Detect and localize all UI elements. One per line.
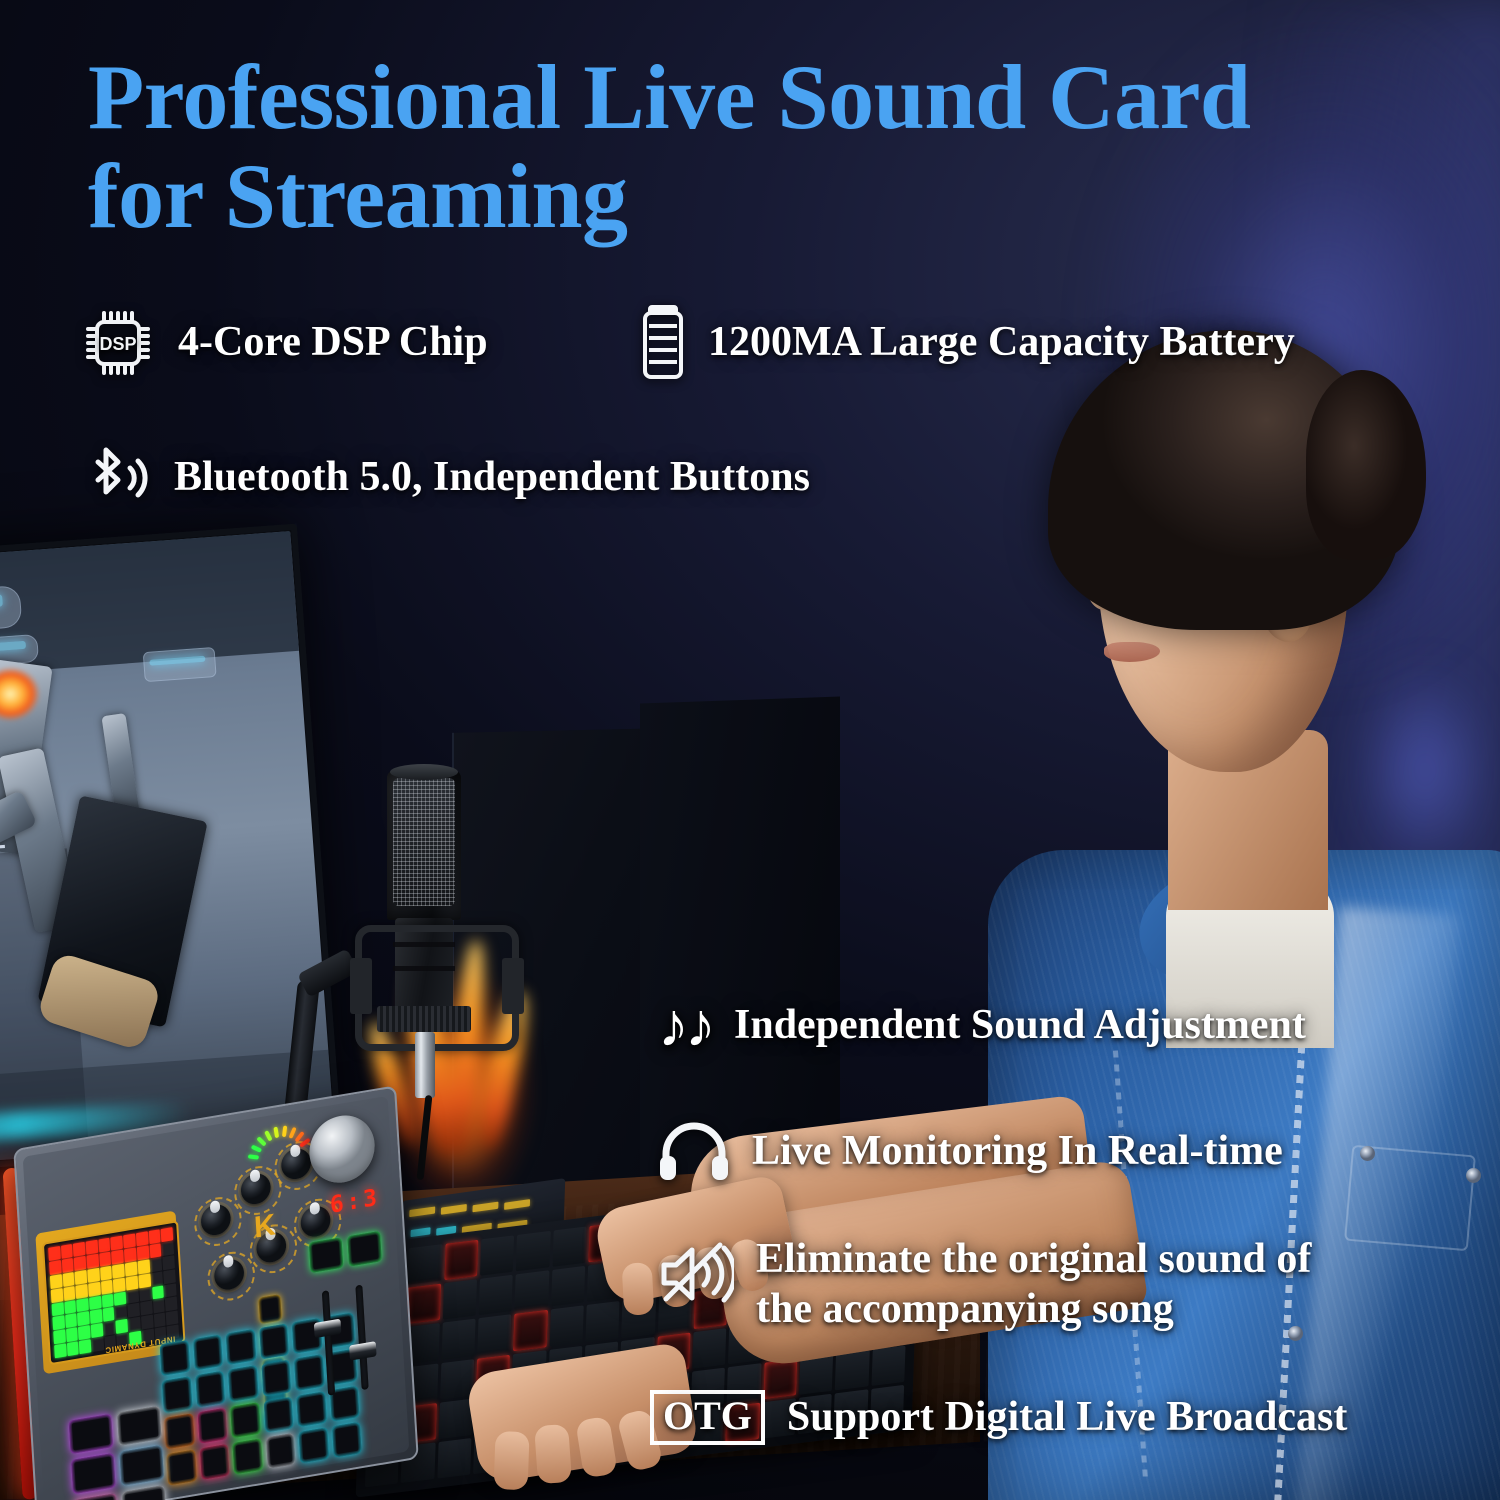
headphones-icon xyxy=(658,1120,730,1184)
sound-pad[interactable] xyxy=(160,1340,190,1376)
bluetooth-icon xyxy=(80,440,152,516)
sound-pad[interactable] xyxy=(263,1396,293,1432)
title-line-1: Professional Live Sound Card xyxy=(88,46,1251,148)
voice-pad[interactable] xyxy=(117,1406,161,1447)
sound-pad[interactable] xyxy=(261,1360,291,1396)
otg-badge-icon: OTG xyxy=(650,1390,765,1445)
sound-pad[interactable] xyxy=(230,1402,260,1438)
title-line-2: for Streaming xyxy=(88,147,1428,246)
feature-sound-adjustment-label: Independent Sound Adjustment xyxy=(734,1001,1306,1051)
feature-bluetooth-label: Bluetooth 5.0, Independent Buttons xyxy=(174,453,810,503)
feature-battery-label: 1200MA Large Capacity Battery xyxy=(708,318,1295,368)
voice-pad[interactable] xyxy=(74,1493,118,1500)
mute-speaker-icon xyxy=(658,1241,734,1307)
voice-pad[interactable] xyxy=(71,1453,115,1494)
feature-sound-adjustment: ♪♪ Independent Sound Adjustment xyxy=(658,995,1306,1057)
sound-pad[interactable] xyxy=(226,1329,256,1365)
feature-otg-label: Support Digital Live Broadcast xyxy=(787,1393,1347,1443)
sound-pad[interactable] xyxy=(266,1433,296,1469)
music-notes-icon: ♪♪ xyxy=(658,995,712,1057)
sound-pad[interactable] xyxy=(164,1413,194,1449)
feature-dsp-label: 4-Core DSP Chip xyxy=(178,318,488,368)
sound-pad[interactable] xyxy=(332,1422,362,1458)
sound-pad[interactable] xyxy=(197,1407,227,1443)
voice-pad[interactable] xyxy=(69,1414,113,1455)
brand-logo: K xyxy=(253,1208,276,1246)
product-feature-poster: ✛ xyxy=(0,0,1500,1500)
sound-pad[interactable] xyxy=(228,1365,258,1401)
sound-pad[interactable] xyxy=(199,1444,229,1480)
device-faceplate: INPUT DYNAMIC 6:3 K xyxy=(23,1096,410,1500)
svg-text:DSP: DSP xyxy=(99,334,136,354)
feature-battery: 1200MA Large Capacity Battery xyxy=(640,305,1295,381)
voice-pad[interactable] xyxy=(122,1485,166,1500)
feature-eliminate-label: Eliminate the original sound of the acco… xyxy=(756,1235,1311,1334)
feature-live-monitoring: Live Monitoring In Real-time xyxy=(658,1120,1283,1184)
voice-pad[interactable] xyxy=(119,1445,163,1486)
live-sound-card-device[interactable]: INPUT DYNAMIC 6:3 K xyxy=(13,1085,419,1500)
feature-live-monitoring-label: Live Monitoring In Real-time xyxy=(752,1127,1283,1177)
battery-icon xyxy=(640,305,686,381)
sound-pad[interactable] xyxy=(232,1438,262,1474)
sound-pad[interactable] xyxy=(259,1324,289,1360)
volume-dial-led-arc xyxy=(244,1120,317,1202)
dsp-chip-icon: DSP xyxy=(80,305,156,381)
voice-changer-pad-grid[interactable] xyxy=(69,1406,167,1500)
sound-pad[interactable] xyxy=(166,1449,196,1485)
condenser-microphone xyxy=(355,770,505,1100)
sound-pad[interactable] xyxy=(299,1427,329,1463)
feature-bluetooth: Bluetooth 5.0, Independent Buttons xyxy=(80,440,810,516)
game-screen: ✛ xyxy=(0,531,335,1169)
sound-pad[interactable] xyxy=(162,1377,192,1413)
feature-otg-support: OTG Support Digital Live Broadcast xyxy=(650,1390,1347,1445)
feature-dsp-chip: DSP 4-Core DSP Chip xyxy=(80,305,488,381)
sound-pad[interactable] xyxy=(195,1371,225,1407)
page-title: Professional Live Sound Card for Streami… xyxy=(88,48,1428,247)
fader-bank[interactable] xyxy=(312,1275,393,1418)
sound-pad[interactable] xyxy=(193,1335,223,1371)
feature-eliminate-original-sound: Eliminate the original sound of the acco… xyxy=(658,1235,1311,1334)
